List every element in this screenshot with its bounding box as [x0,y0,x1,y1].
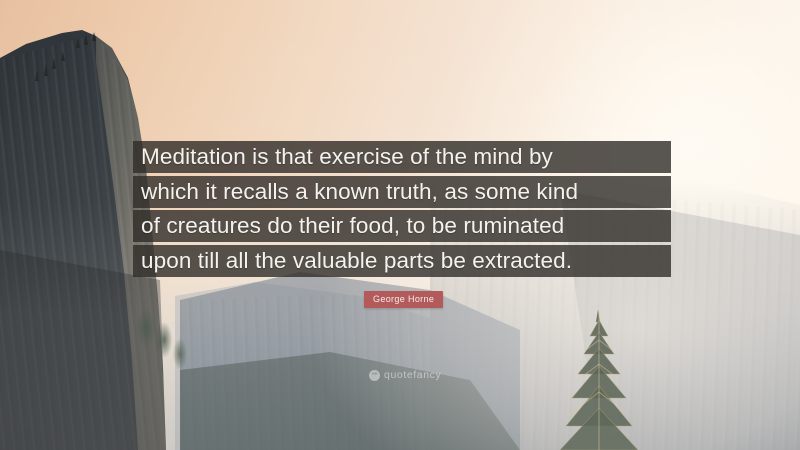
quote-line-2: which it recalls a known truth, as some … [133,176,671,208]
quote-line-1: Meditation is that exercise of the mind … [133,141,671,173]
quote-text-block: Meditation is that exercise of the mind … [133,141,671,277]
quote-poster: Meditation is that exercise of the mind … [0,0,800,450]
quotefancy-brand-text: quotefancy [384,369,441,381]
quote-line-4: upon till all the valuable parts be extr… [133,245,671,277]
author-badge: George Horne [364,291,443,308]
quotefancy-logo-icon: ““ [369,370,380,381]
quote-line-3: of creatures do their food, to be rumina… [133,210,671,242]
quotefancy-watermark: ““ quotefancy [369,369,441,381]
